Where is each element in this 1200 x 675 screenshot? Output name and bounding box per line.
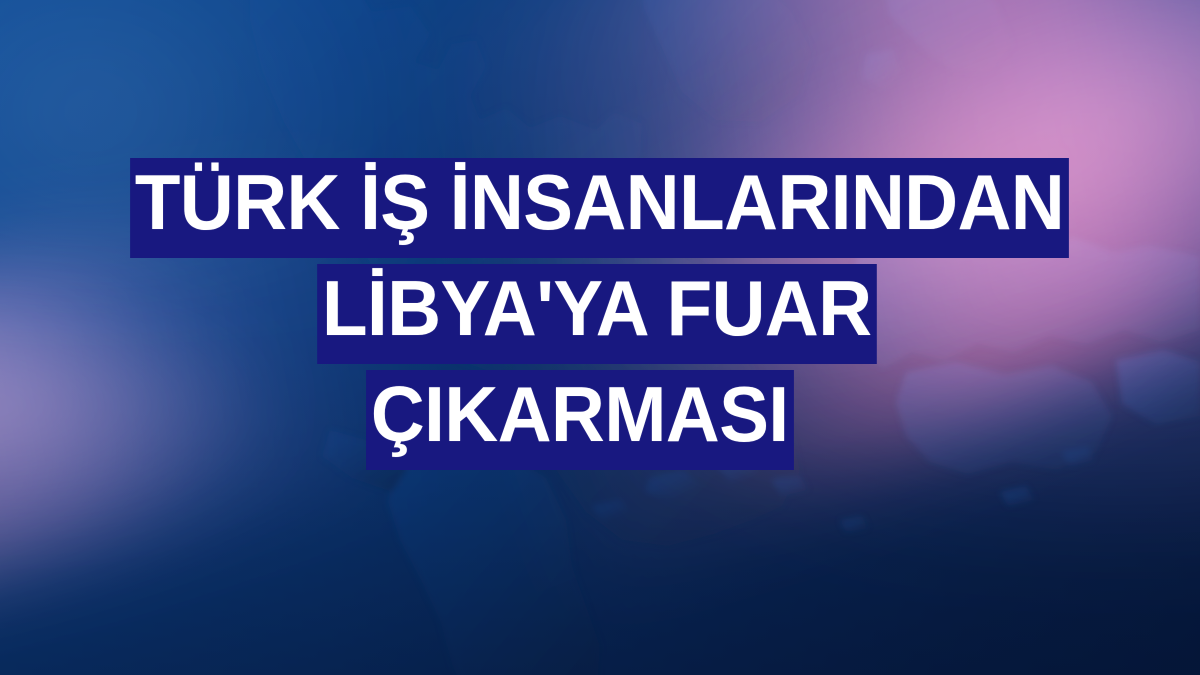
headline: TÜRK İŞ İNSANLARINDAN LİBYA'YA FUAR ÇIKA… (0, 158, 1200, 470)
headline-line-2-text: LİBYA'YA FUAR (317, 264, 876, 364)
headline-line-1: TÜRK İŞ İNSANLARINDAN (108, 158, 1091, 258)
headline-banner: TÜRK İŞ İNSANLARINDAN LİBYA'YA FUAR ÇIKA… (0, 0, 1200, 675)
headline-line-1-text: TÜRK İŞ İNSANLARINDAN (131, 158, 1070, 258)
headline-line-3: ÇIKARMASI (356, 370, 804, 470)
headline-line-2: LİBYA'YA FUAR (304, 264, 890, 364)
headline-line-3-text: ÇIKARMASI (366, 370, 793, 470)
